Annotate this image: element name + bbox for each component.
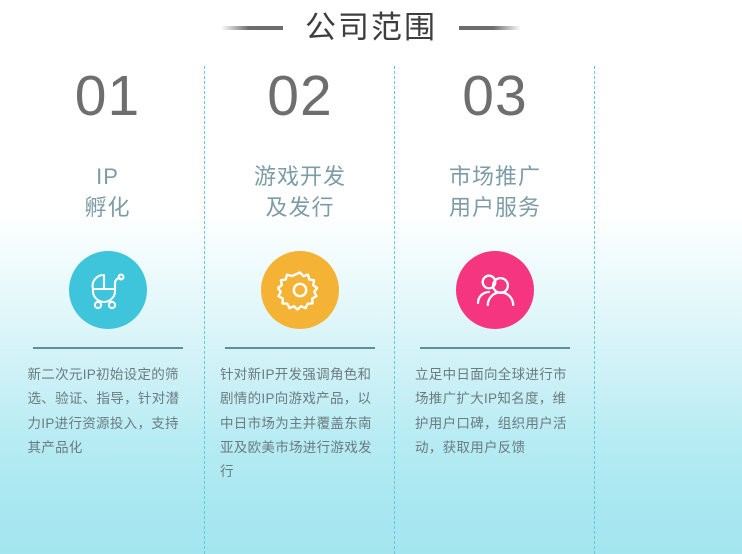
gear-icon [261,251,339,329]
column-rule-3 [420,347,570,349]
column-number-2: 02 [267,68,332,125]
column-heading-2-line1: 游戏开发 [254,161,346,192]
column-heading-3-line1: 市场推广 [449,161,541,192]
columns-container: 01 IP 孵化 新二次元IP初始设定的筛选、验证、指导，针对潜力IP进行资源投… [0,0,742,554]
slide-canvas: 公司范围 01 IP 孵化 新二次 [0,0,742,554]
column-heading-2-line2: 及发行 [254,192,346,223]
scope-column-3: 03 市场推广 用户服务 立足中日面向全球进行市场推广扩大IP知名度，维护用户口… [395,0,595,554]
column-body-2: 针对新IP开发强调角色和剧情的IP向游戏产品，以中日市场为主并覆盖东南亚及欧美市… [220,363,380,483]
baby-stroller-icon [69,251,147,329]
scope-column-1: 01 IP 孵化 新二次元IP初始设定的筛选、验证、指导，针对潜力IP进行资源投… [10,0,205,554]
column-rule-2 [225,347,375,349]
column-heading-1-line2: 孵化 [84,192,130,223]
column-body-3: 立足中日面向全球进行市场推广扩大IP知名度，维护用户口碑，组织用户活动，获取用户… [415,363,575,459]
column-heading-1: IP 孵化 [84,161,130,223]
users-group-icon [456,251,534,329]
column-body-1: 新二次元IP初始设定的筛选、验证、指导，针对潜力IP进行资源投入，支持其产品化 [28,363,188,459]
column-heading-3-line2: 用户服务 [449,192,541,223]
column-number-1: 01 [75,68,140,125]
column-heading-2: 游戏开发 及发行 [254,161,346,223]
column-number-3: 03 [462,68,527,125]
column-heading-1-line1: IP [84,161,130,192]
column-rule-1 [33,347,183,349]
column-heading-3: 市场推广 用户服务 [449,161,541,223]
scope-column-2: 02 游戏开发 及发行 针对新IP开发强调角色和剧情的IP向游戏产品，以中日市场… [205,0,395,554]
